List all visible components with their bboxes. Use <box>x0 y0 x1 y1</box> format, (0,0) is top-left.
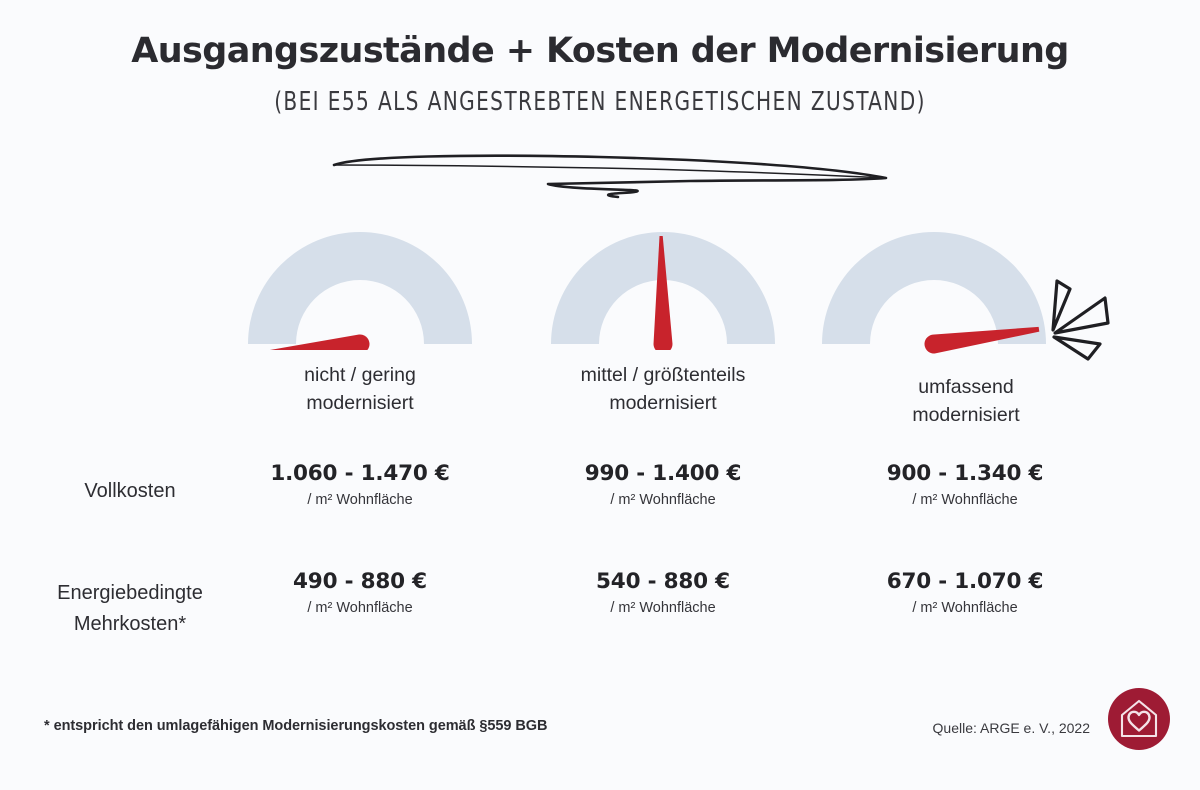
cell-value: 490 - 880 € <box>210 570 510 594</box>
cell-unit: / m² Wohnfläche <box>210 601 510 617</box>
gauge-graphic-2 <box>493 232 833 350</box>
gauge-mittel-groesstenteils-modernisiert: mittel / größtenteils modernisiert <box>493 232 833 417</box>
page-subtitle: (BEI E55 ALS ANGESTREBTEN ENERGETISCHEN … <box>84 71 1116 117</box>
table-row: Energiebedingte Mehrkosten* 490 - 880 € … <box>0 570 1200 678</box>
cost-table: Vollkosten 1.060 - 1.470 € / m² Wohnfläc… <box>0 462 1200 678</box>
cell-mehrkosten-nicht-gering: 490 - 880 € / m² Wohnfläche <box>210 570 510 617</box>
cell-unit: / m² Wohnfläche <box>815 493 1115 509</box>
gauge-graphic-1 <box>190 232 530 350</box>
cell-mehrkosten-umfassend: 670 - 1.070 € / m² Wohnfläche <box>815 570 1115 617</box>
cell-unit: / m² Wohnfläche <box>815 601 1115 617</box>
cell-value: 670 - 1.070 € <box>815 570 1115 594</box>
page-title: Ausgangszustände + Kosten der Modernisie… <box>0 0 1200 71</box>
gauge-label-2: mittel / größtenteils modernisiert <box>493 362 833 417</box>
cell-unit: / m² Wohnfläche <box>513 493 813 509</box>
footnote: * entspricht den umlagefähigen Modernisi… <box>44 718 547 734</box>
source-note: Quelle: ARGE e. V., 2022 <box>933 720 1090 736</box>
infographic-canvas: Ausgangszustände + Kosten der Modernisie… <box>0 0 1200 790</box>
gauge-dial-icon <box>545 232 781 350</box>
gauge-nicht-gering-modernisiert: nicht / gering modernisiert <box>190 232 530 417</box>
cell-value: 900 - 1.340 € <box>815 462 1115 486</box>
cell-value: 540 - 880 € <box>513 570 813 594</box>
gauge-umfassend-modernisiert: umfassend modernisiert <box>796 232 1136 429</box>
table-row: Vollkosten 1.060 - 1.470 € / m² Wohnfläc… <box>0 462 1200 570</box>
cell-value: 1.060 - 1.470 € <box>210 462 510 486</box>
impact-burst-marks-icon <box>1053 281 1108 359</box>
gauge-graphic-3 <box>796 232 1136 350</box>
cell-mehrkosten-mittel: 540 - 880 € / m² Wohnfläche <box>513 570 813 617</box>
cell-vollkosten-mittel: 990 - 1.400 € / m² Wohnfläche <box>513 462 813 509</box>
house-heart-logo-icon <box>1108 688 1170 750</box>
cell-value: 990 - 1.400 € <box>513 462 813 486</box>
gauge-label-1: nicht / gering modernisiert <box>190 362 530 417</box>
gauge-dial-icon <box>242 232 478 350</box>
cell-vollkosten-nicht-gering: 1.060 - 1.470 € / m² Wohnfläche <box>210 462 510 509</box>
gauge-label-3: umfassend modernisiert <box>796 374 1136 429</box>
header: Ausgangszustände + Kosten der Modernisie… <box>0 0 1200 117</box>
cell-unit: / m² Wohnfläche <box>513 601 813 617</box>
gauge-arc-track <box>248 232 472 344</box>
cell-unit: / m² Wohnfläche <box>210 493 510 509</box>
gauge-arc-track <box>822 232 1046 344</box>
gauge-dial-icon <box>816 232 1116 362</box>
gauges-row: nicht / gering modernisiert mittel / grö… <box>0 232 1200 432</box>
cell-vollkosten-umfassend: 900 - 1.340 € / m² Wohnfläche <box>815 462 1115 509</box>
hand-drawn-swoosh-underline-icon <box>0 148 1200 210</box>
